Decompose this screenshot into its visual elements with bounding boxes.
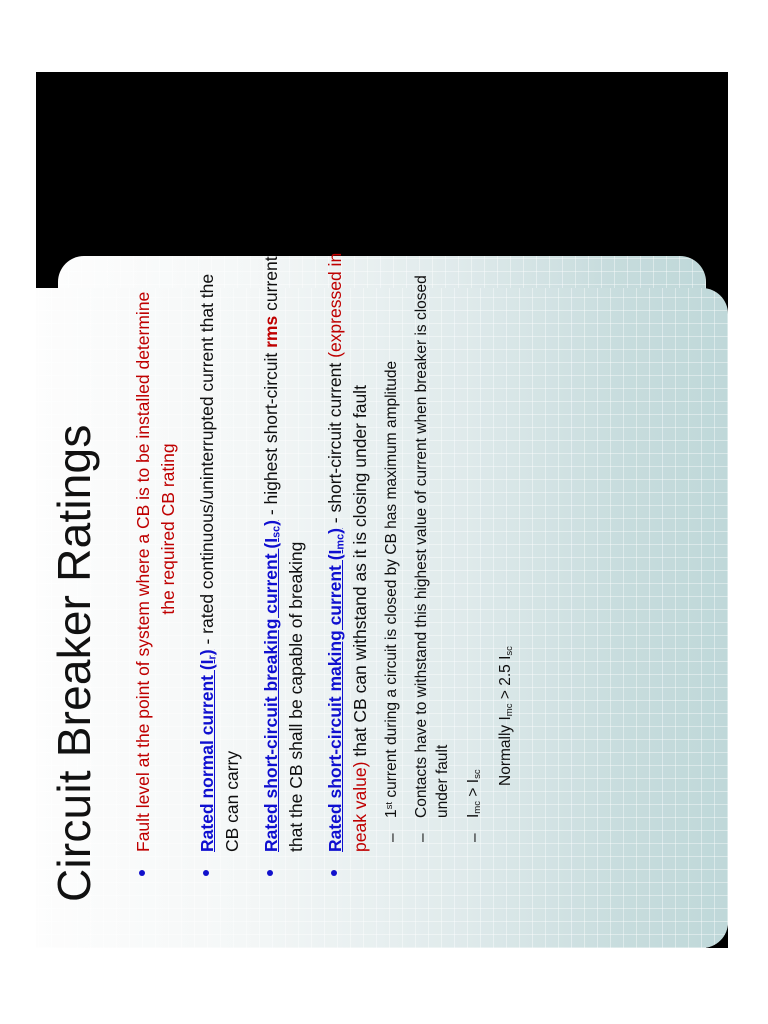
slide-canvas-rotated: Circuit Breaker Ratings Fault level at t… <box>36 72 728 948</box>
bullet-text: - short-circuit current <box>325 358 345 528</box>
bullet-emphasis: peak value) <box>350 762 370 852</box>
bullet-marker-icon <box>139 870 145 876</box>
list-item: Rated short-circuit breaking current (Is… <box>260 86 283 882</box>
sub-bullet-text: under fault <box>434 745 451 818</box>
bullet-text: - highest short-circuit <box>261 348 281 520</box>
dash-marker-icon: – <box>413 833 433 842</box>
sub-list-item: – Imc > Isc <box>464 86 485 882</box>
note-line: Normally Imc > 2.5 Isc <box>496 86 517 882</box>
bullet-marker-icon <box>331 870 337 876</box>
bullet-text: that CB can withstand as it is closing u… <box>350 385 370 761</box>
note-text: Normally Imc > 2.5 Isc <box>497 646 514 786</box>
sub-bullet-text: 1st current during a circuit is closed b… <box>383 361 400 818</box>
bullet-text: that the CB shall be capable of breaking <box>286 542 306 852</box>
bullet-emphasis: rms <box>261 316 281 348</box>
dash-marker-icon: – <box>465 833 485 842</box>
list-item-continuation: the required CB rating <box>157 86 180 882</box>
bullet-list: Fault level at the point of system where… <box>132 86 517 882</box>
bullet-keyword: Rated normal current (Ir) <box>197 649 217 852</box>
slide-content: Circuit Breaker Ratings Fault level at t… <box>36 72 728 948</box>
list-item-continuation: peak value) that CB can withstand as it … <box>349 86 372 882</box>
list-item: Rated normal current (Ir) - rated contin… <box>196 86 219 882</box>
bullet-marker-icon <box>267 870 273 876</box>
sub-list-item: – Contacts have to withstand this highes… <box>412 86 432 882</box>
sub-bullet-text: Imc > Isc <box>465 769 482 818</box>
bullet-emphasis: (expressed in <box>325 253 345 358</box>
dash-marker-icon: – <box>383 833 403 842</box>
sub-bullet-text: Contacts have to withstand this highest … <box>413 275 430 818</box>
sub-list-item: – 1st current during a circuit is closed… <box>382 86 402 882</box>
list-item: Fault level at the point of system where… <box>132 86 155 882</box>
bullet-text: CB can carry <box>222 751 242 852</box>
list-item-continuation: CB can carry <box>221 86 244 882</box>
bullet-keyword: Rated short-circuit breaking current (Is… <box>261 520 281 852</box>
sub-list-item-continuation: under fault <box>433 86 453 882</box>
list-item-continuation: that the CB shall be capable of breaking <box>285 86 308 882</box>
bullet-keyword: Rated short-circuit making current (Imc) <box>325 528 345 852</box>
page-title: Circuit Breaker Ratings <box>50 182 98 902</box>
bullet-text: current <box>261 256 281 315</box>
bullet-marker-icon <box>203 870 209 876</box>
bullet-text: - rated continuous/uninterrupted current… <box>197 274 217 650</box>
bullet-text: Fault level at the point of system where… <box>133 292 153 852</box>
bullet-text: the required CB rating <box>158 443 178 614</box>
list-item: Rated short-circuit making current (Imc)… <box>324 86 347 882</box>
